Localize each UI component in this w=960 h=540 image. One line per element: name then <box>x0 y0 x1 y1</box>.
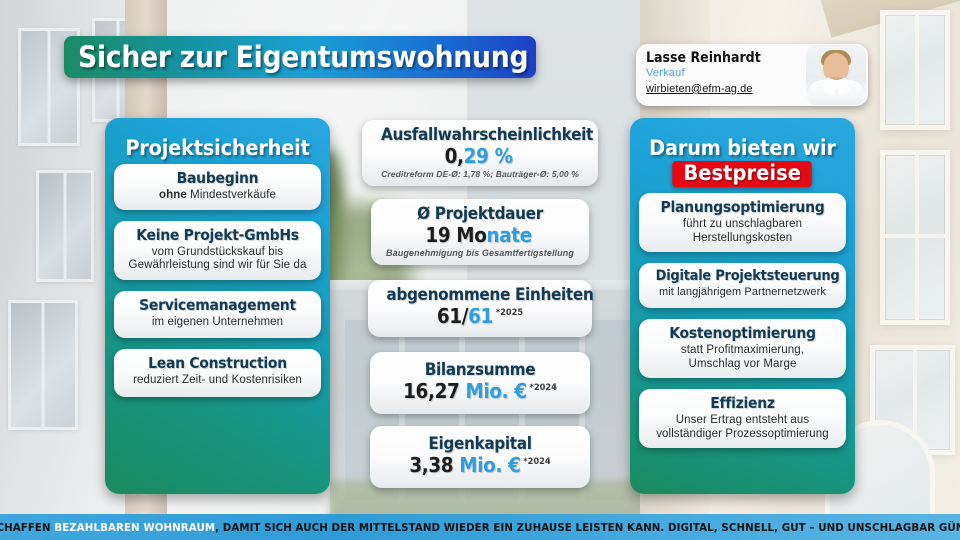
status-badge: Bestpreise <box>673 161 813 187</box>
card-subtitle-strong: ohne <box>159 189 187 201</box>
card-title: Effizienz <box>656 394 830 412</box>
card-subtitle: mit langjährigem Partnernetzwerk <box>646 286 839 299</box>
list-item[interactable]: Effizienz Unser Ertrag entsteht aus voll… <box>639 389 846 448</box>
contact-card[interactable]: Lasse Reinhardt Verkauf wirbieten@efm-ag… <box>636 44 868 106</box>
card-title: Servicemanagement <box>131 296 305 314</box>
stat-value-highlight: 29 % <box>464 144 513 168</box>
stat-value-dark: 61/ <box>437 304 468 328</box>
stat-note: Creditreform DE-Ø: 1,78 %; Bauträger-Ø: … <box>370 169 590 179</box>
stat-value-dark: 19 Mo <box>425 223 486 247</box>
card-title: Lean Construction <box>131 354 305 372</box>
stat-value-highlight: Mio. € <box>459 453 520 477</box>
card-title: Kostenoptimierung <box>656 324 830 342</box>
quote-text: „WIR SCHAFFEN BEZAHLBAREN WOHNRAUM, DAMI… <box>0 521 960 534</box>
card-subtitle: führt zu unschlagbaren Herstellungskoste… <box>646 218 839 245</box>
stat-card-bilanzsumme[interactable]: Bilanzsumme 16,27 Mio. €*2024 <box>370 352 590 414</box>
panel-bestpreise: Darum bieten wir Bestpreise Planungsopti… <box>630 118 855 494</box>
stat-value-dark: 0, <box>445 144 464 168</box>
stat-value: 19 Monate <box>387 223 573 247</box>
page-title-banner: Sicher zur Eigentumswohnung <box>64 36 536 78</box>
stat-card-eigenkapital[interactable]: Eigenkapital 3,38 Mio. €*2024 <box>370 426 590 488</box>
list-item[interactable]: Baubeginn ohne Mindestverkäufe <box>114 164 321 210</box>
stat-title: Ausfallwahrscheinlichkeit <box>381 125 579 145</box>
stat-title: Ø Projektdauer <box>389 204 571 224</box>
card-subtitle: Unser Ertrag entsteht aus vollständiger … <box>646 414 839 441</box>
stat-value: 16,27 Mio. €*2024 <box>386 379 574 403</box>
stat-card-projektdauer[interactable]: Ø Projektdauer 19 Monate Baugenehmigung … <box>371 199 589 265</box>
list-item[interactable]: Servicemanagement im eigenen Unternehmen <box>114 291 321 339</box>
card-title: Baubeginn <box>131 169 305 187</box>
list-item[interactable]: Lean Construction reduziert Zeit- und Ko… <box>114 349 321 397</box>
card-subtitle-rest: Mindestverkäufe <box>187 189 276 201</box>
contact-email-link[interactable]: wirbieten@efm-ag.de <box>646 83 753 95</box>
stat-title: Bilanzsumme <box>388 360 572 380</box>
card-title: Planungsoptimierung <box>656 198 830 216</box>
stat-value-superscript: *2024 <box>523 457 550 467</box>
stat-title: Eigenkapital <box>388 434 572 454</box>
stat-value-highlight: Mio. € <box>465 379 526 403</box>
panel-projektsicherheit: Projektsicherheit Baubeginn ohne Mindest… <box>105 118 330 494</box>
card-subtitle: im eigenen Unternehmen <box>121 316 314 330</box>
panel-right-heading: Darum bieten wir <box>647 136 837 160</box>
panel-left-heading: Projektsicherheit <box>122 136 312 160</box>
stat-value: 0,29 % <box>379 144 581 168</box>
card-subtitle: statt Profitmaximierung, Umschlag vor Ma… <box>646 344 839 371</box>
stat-note: Baugenehmigung bis Gesamtfertigstellung <box>379 248 581 258</box>
quote-part1: „WIR SCHAFFEN <box>0 521 55 534</box>
card-subtitle: ohne Mindestverkäufe <box>121 189 314 203</box>
quote-part2: , DAMIT SICH AUCH DER MITTELSTAND WIEDER… <box>215 521 960 534</box>
stat-title: abgenommene Einheiten <box>386 285 573 305</box>
quote-bar: „WIR SCHAFFEN BEZAHLBAREN WOHNRAUM, DAMI… <box>0 514 960 540</box>
page-title: Sicher zur Eigentumswohnung <box>78 40 528 74</box>
stat-value-dark: 16,27 <box>403 379 465 403</box>
list-item[interactable]: Kostenoptimierung statt Profitmaximierun… <box>639 319 846 378</box>
stat-value: 3,38 Mio. €*2024 <box>386 453 574 477</box>
stat-value-highlight: nate <box>487 223 532 247</box>
stat-value-highlight: 61 <box>468 304 493 328</box>
card-subtitle: reduziert Zeit- und Kostenrisiken <box>121 374 314 388</box>
list-item[interactable]: Keine Projekt-GmbHs vom Grundstückskauf … <box>114 221 321 280</box>
card-title: Digitale Projektsteuerung <box>656 268 830 284</box>
avatar <box>806 45 866 105</box>
card-title: Keine Projekt-GmbHs <box>131 226 305 244</box>
list-item[interactable]: Digitale Projektsteuerung mit langjährig… <box>639 263 846 308</box>
card-subtitle: vom Grundstückskauf bis Gewährleistung s… <box>121 246 314 273</box>
stat-value-superscript: *2025 <box>496 308 523 318</box>
list-item[interactable]: Planungsoptimierung führt zu unschlagbar… <box>639 193 846 252</box>
stat-value: 61/61*2025 <box>384 304 575 328</box>
stat-value-dark: 3,38 <box>409 453 459 477</box>
quote-highlight: BEZAHLBAREN WOHNRAUM <box>55 521 216 534</box>
stat-value-superscript: *2024 <box>530 383 557 393</box>
stat-card-ausfallwahrscheinlichkeit[interactable]: Ausfallwahrscheinlichkeit 0,29 % Creditr… <box>362 120 598 186</box>
stat-card-einheiten[interactable]: abgenommene Einheiten 61/61*2025 <box>368 280 592 337</box>
